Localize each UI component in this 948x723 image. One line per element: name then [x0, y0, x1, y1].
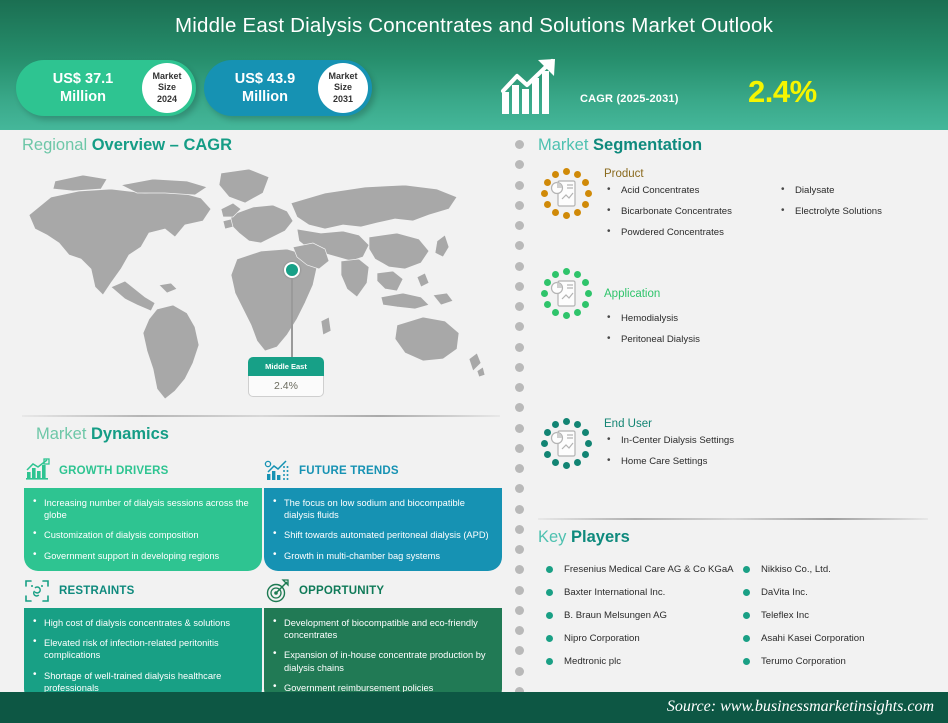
cagr-label: CAGR (2025-2031) [580, 93, 679, 105]
market-size-2024-value: US$ 37.1 Million [16, 70, 142, 106]
segmentation-title-bold: Segmentation [593, 136, 702, 154]
market-size-2031-badge: Market Size 2031 [318, 63, 368, 113]
list-item: Fresenius Medical Care AG & Co KGaA [540, 563, 737, 576]
opportunity-label: OPPORTUNITY [299, 585, 384, 597]
vertical-dot-divider [513, 140, 525, 696]
market-size-2031-value: US$ 43.9 Million [204, 70, 318, 106]
list-item: Dialysate [778, 184, 938, 198]
key-players-columns: Fresenius Medical Care AG & Co KGaA Baxt… [540, 563, 940, 678]
restraints-list: High cost of dialysis concentrates & sol… [30, 617, 252, 694]
market-size-2024-pill: US$ 37.1 Million Market Size 2024 [16, 60, 196, 116]
callout-cagr-value: 2.4% [248, 376, 324, 397]
bar-chart-growth-arrow-icon [500, 58, 562, 116]
dynamics-title-light: Market [36, 425, 91, 443]
right-section-divider [538, 518, 928, 520]
list-item: Asahi Kasei Corporation [737, 632, 937, 645]
segment-end-user-list: In-Center Dialysis Settings Home Care Se… [604, 434, 904, 469]
segment-application-list: Hemodialysis Peritoneal Dialysis [604, 312, 904, 347]
left-section-divider [22, 415, 500, 417]
target-dart-icon [264, 578, 290, 604]
list-item: DaVita Inc. [737, 586, 937, 599]
segment-product: Product Acid Concentrates Bicarbonate Co… [540, 168, 940, 247]
segment-product-list-b: Dialysate Electrolyte Solutions [778, 184, 938, 247]
segment-product-label: Product [604, 168, 940, 180]
dynamics-future-trends: FUTURE TRENDS The focus on low sodium an… [264, 458, 502, 571]
list-item: Nipro Corporation [540, 632, 737, 645]
list-item: Shortage of well-trained dialysis health… [30, 670, 252, 694]
list-item: Shift towards automated peritoneal dialy… [270, 529, 492, 541]
segment-application: Application Hemodialysis Peritoneal Dial… [540, 268, 940, 354]
list-item: Hemodialysis [604, 312, 904, 326]
market-size-2024-unit: Million [60, 89, 106, 105]
list-item: Acid Concentrates [604, 184, 778, 198]
growth-drivers-box: Increasing number of dialysis sessions a… [24, 488, 262, 571]
badge-line-1: Market [328, 71, 357, 83]
key-players-title-bold: Players [571, 528, 630, 546]
footer-bar: Source: www.businessmarketinsights.com [0, 692, 948, 723]
report-document-dots-icon [540, 168, 592, 220]
market-segmentation-title: Market Segmentation [538, 136, 702, 155]
market-size-2031-unit: Million [242, 89, 288, 105]
map-pin-dot-icon [284, 262, 300, 278]
segment-application-label: Application [604, 288, 940, 300]
key-players-title: Key Players [538, 528, 630, 547]
page-title: Middle East Dialysis Concentrates and So… [0, 14, 948, 38]
market-dynamics-title: Market Dynamics [36, 425, 169, 444]
segment-end-user-label: End User [604, 418, 940, 430]
opportunity-header: OPPORTUNITY [264, 578, 502, 604]
cagr-value: 2.4% [748, 74, 817, 110]
document-glyph [540, 268, 592, 320]
list-item: Customization of dialysis composition [30, 529, 252, 541]
future-trends-header: FUTURE TRENDS [264, 458, 502, 484]
list-item: Development of biocompatible and eco-fri… [270, 617, 492, 641]
dynamics-growth-drivers: GROWTH DRIVERS Increasing number of dial… [24, 458, 262, 571]
future-trends-label: FUTURE TRENDS [299, 465, 399, 477]
dynamics-restraints: RESTRAINTS High cost of dialysis concent… [24, 578, 262, 703]
segment-end-user: End User In-Center Dialysis Settings Hom… [540, 418, 940, 476]
regional-title-light: Regional [22, 136, 92, 154]
callout-region-name: Middle East [248, 357, 324, 376]
trend-analytics-icon [264, 458, 290, 484]
infographic-page: Middle East Dialysis Concentrates and So… [0, 0, 948, 723]
badge-line-1: Market [152, 71, 181, 83]
restraints-label: RESTRAINTS [59, 585, 134, 597]
badge-year: 2031 [333, 94, 353, 106]
list-item: Teleflex Inc [737, 609, 937, 622]
list-item: Terumo Corporation [737, 655, 937, 668]
list-item: Government support in developing regions [30, 550, 252, 562]
restraints-header: RESTRAINTS [24, 578, 262, 604]
opportunity-list: Development of biocompatible and eco-fri… [270, 617, 492, 694]
market-size-2024-amount: US$ 37.1 [53, 71, 113, 87]
region-callout: Middle East 2.4% [248, 357, 324, 397]
opportunity-box: Development of biocompatible and eco-fri… [264, 608, 502, 703]
source-text: Source: www.businessmarketinsights.com [667, 698, 934, 716]
growth-drivers-list: Increasing number of dialysis sessions a… [30, 497, 252, 562]
report-document-dots-icon [540, 268, 592, 320]
growth-drivers-label: GROWTH DRIVERS [59, 465, 169, 477]
list-item: Increasing number of dialysis sessions a… [30, 497, 252, 521]
chain-link-brackets-icon [24, 578, 50, 604]
list-item: Nikkiso Co., Ltd. [737, 563, 937, 576]
list-item: The focus on low sodium and biocompatibl… [270, 497, 492, 521]
badge-year: 2024 [157, 94, 177, 106]
market-size-2031-amount: US$ 43.9 [235, 71, 295, 87]
callout-leader-line [291, 278, 293, 358]
list-item: In-Center Dialysis Settings [604, 434, 904, 448]
regional-title-bold: Overview – CAGR [92, 136, 232, 154]
key-players-title-light: Key [538, 528, 571, 546]
header-banner: Middle East Dialysis Concentrates and So… [0, 0, 948, 130]
list-item: Growth in multi-chamber bag systems [270, 550, 492, 562]
badge-line-2: Size [158, 82, 176, 94]
list-item: Baxter International Inc. [540, 586, 737, 599]
list-item: Home Care Settings [604, 455, 904, 469]
market-size-2024-badge: Market Size 2024 [142, 63, 192, 113]
list-item: B. Braun Melsungen AG [540, 609, 737, 622]
list-item: Bicarbonate Concentrates [604, 205, 778, 219]
list-item: Medtronic plc [540, 655, 737, 668]
list-item: Peritoneal Dialysis [604, 333, 904, 347]
list-item: Expansion of in-house concentrate produc… [270, 649, 492, 673]
list-item: Powdered Concentrates [604, 226, 778, 240]
document-glyph [540, 168, 592, 220]
list-item: High cost of dialysis concentrates & sol… [30, 617, 252, 629]
segmentation-title-light: Market [538, 136, 593, 154]
report-document-dots-icon [540, 418, 592, 470]
restraints-box: High cost of dialysis concentrates & sol… [24, 608, 262, 703]
dynamics-title-bold: Dynamics [91, 425, 169, 443]
dynamics-opportunity: OPPORTUNITY Development of biocompatible… [264, 578, 502, 703]
list-item: Elevated risk of infection-related perit… [30, 637, 252, 661]
growth-drivers-header: GROWTH DRIVERS [24, 458, 262, 484]
document-glyph [540, 418, 592, 470]
future-trends-box: The focus on low sodium and biocompatibl… [264, 488, 502, 571]
key-players-list-b: Nikkiso Co., Ltd. DaVita Inc. Teleflex I… [737, 563, 937, 678]
growth-chart-icon [24, 458, 50, 484]
badge-line-2: Size [334, 82, 352, 94]
market-size-2031-pill: US$ 43.9 Million Market Size 2031 [204, 60, 372, 116]
key-players-list-a: Fresenius Medical Care AG & Co KGaA Baxt… [540, 563, 737, 678]
regional-overview-title: Regional Overview – CAGR [22, 136, 232, 155]
future-trends-list: The focus on low sodium and biocompatibl… [270, 497, 492, 562]
segment-product-list-a: Acid Concentrates Bicarbonate Concentrat… [604, 184, 778, 247]
list-item: Electrolyte Solutions [778, 205, 938, 219]
